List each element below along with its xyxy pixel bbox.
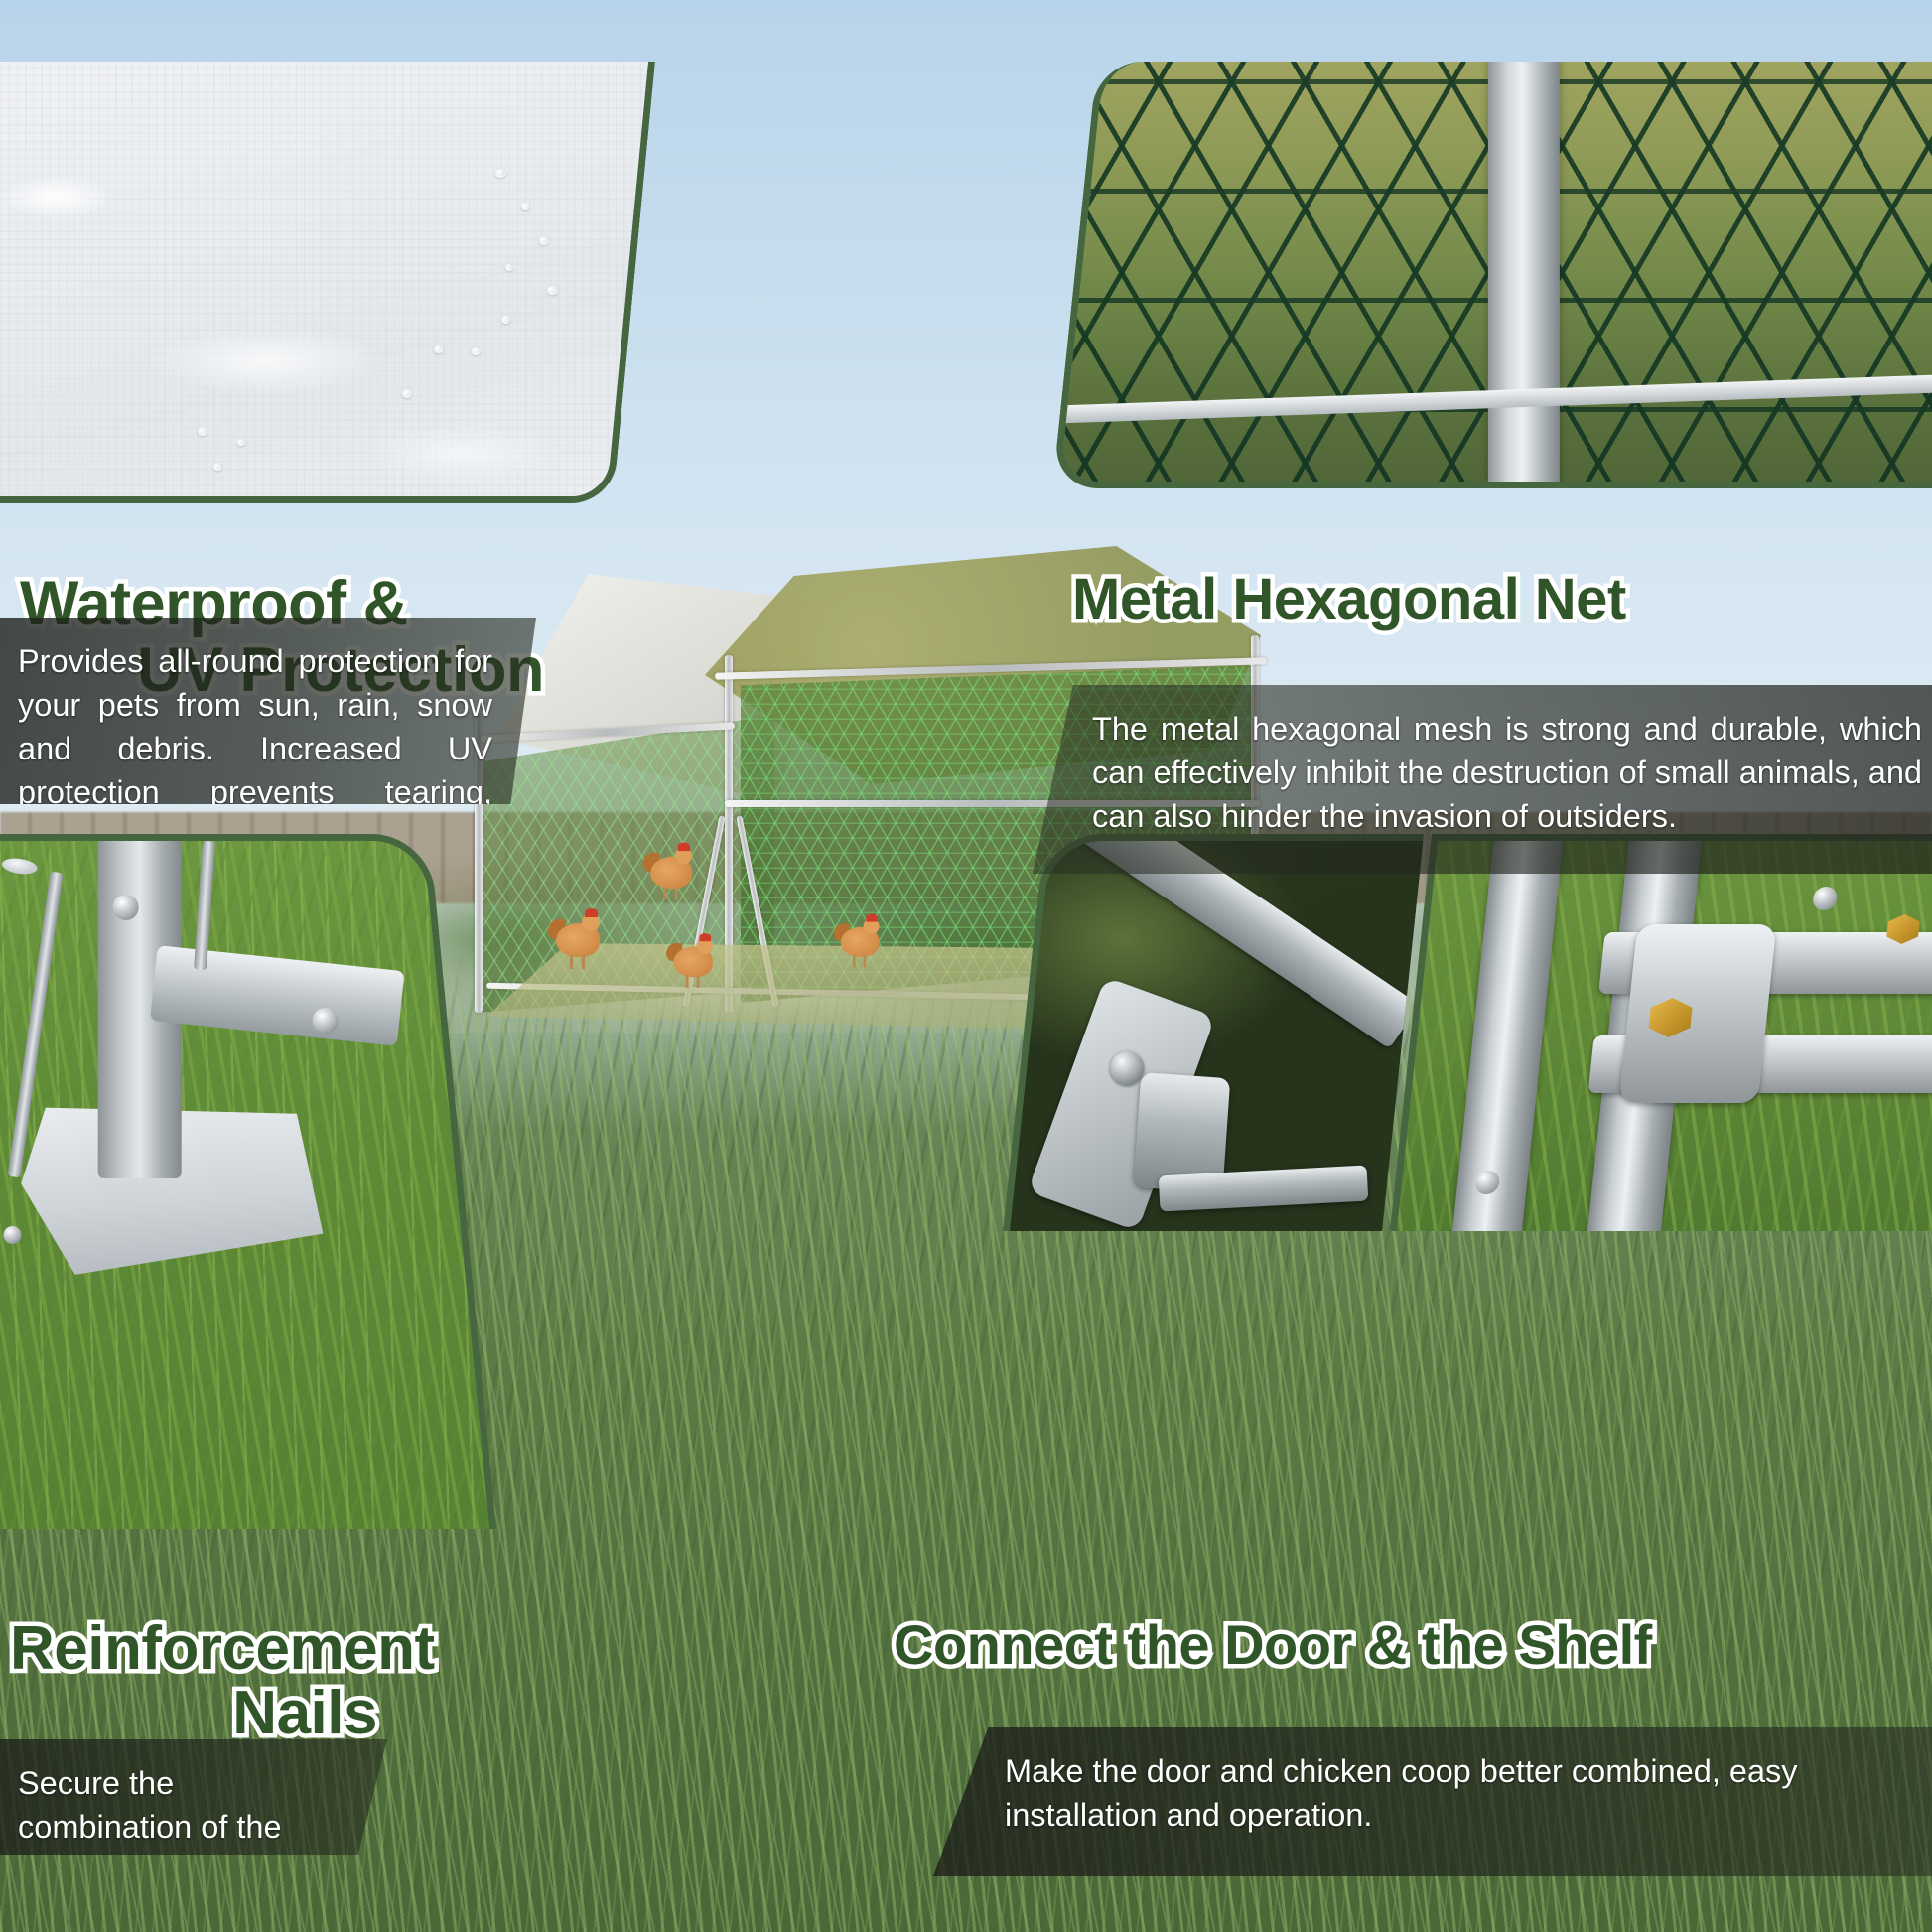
feature-photo-waterproof — [0, 62, 655, 503]
description-connect-door-shelf: Make the door and chicken coop better co… — [933, 1727, 1932, 1876]
bolt — [313, 1008, 339, 1034]
heading-reinforcement-nails-line2: Nails — [10, 1681, 546, 1746]
heading-connect-door-shelf-line1: Connect the Door & the Shelf — [894, 1613, 1652, 1676]
chicken — [837, 916, 885, 965]
chicken — [670, 936, 719, 986]
description-hexagonal-net: The metal hexagonal mesh is strong and d… — [1033, 685, 1932, 874]
bolt — [3, 1226, 21, 1244]
water-droplets-overlay — [0, 62, 627, 496]
heading-connect-door-shelf: Connect the Door & the Shelf — [894, 1557, 1932, 1675]
galvanized-post — [1488, 62, 1560, 488]
feature-photo-hexagonal-net — [1052, 62, 1932, 488]
description-waterproof: Provides all-round protection for your p… — [0, 618, 536, 804]
heading-hexagonal-net-line1: Metal Hexagonal Net — [1072, 567, 1626, 631]
feature-photo-shelf-connector — [1390, 834, 1932, 1231]
product-infographic: Waterproof & UV Protection Metal Hexagon… — [0, 0, 1932, 1932]
chicken — [552, 911, 606, 967]
feature-photo-door-hinge — [1003, 834, 1424, 1231]
feature-photo-reinforcement-nails — [0, 834, 496, 1529]
description-reinforcement-nails: Secure the combination of the cage and t… — [0, 1739, 387, 1855]
hinge-pin — [1110, 1051, 1144, 1085]
heading-hexagonal-net: Metal Hexagonal Net — [1072, 508, 1932, 630]
bolt — [113, 895, 139, 920]
cross-connector — [1619, 924, 1777, 1103]
chicken — [646, 845, 697, 897]
heading-reinforcement-nails-line1: Reinforcement — [10, 1614, 435, 1683]
